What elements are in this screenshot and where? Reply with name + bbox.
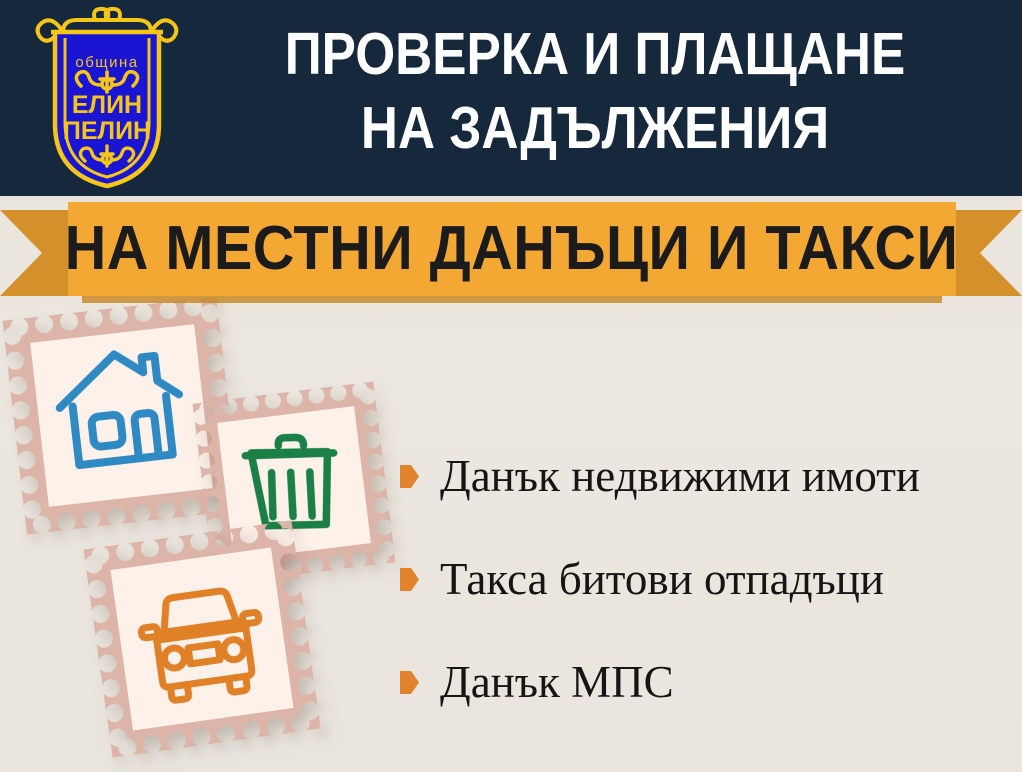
stamp-card-vehicle <box>83 520 320 757</box>
list-item-label: Такса битови отпадъци <box>440 554 884 604</box>
ribbon-banner: НА МЕСТНИ ДАНЪЦИ И ТАКСИ <box>0 196 1022 306</box>
list-item-label: Данък МПС <box>440 657 674 707</box>
list-item[interactable]: Такса битови отпадъци <box>400 527 1010 630</box>
crest-top-text: община <box>75 54 138 71</box>
list-item[interactable]: Данък недвижими имоти <box>400 424 1010 527</box>
crest-name-line1: ЕЛИН <box>72 91 142 119</box>
crest-name-line2: ПЕЛИН <box>63 117 151 145</box>
service-list: Данък недвижими имоти Такса битови отпад… <box>400 424 1010 733</box>
stamp-paper <box>111 548 294 731</box>
arrow-bullet-icon <box>400 568 419 591</box>
arrow-bullet-icon <box>400 671 419 694</box>
municipality-crest-logo: община ЕЛИН ПЕЛИН <box>33 6 181 190</box>
list-item-label: Данък недвижими имоти <box>440 451 920 501</box>
ribbon-shadow <box>82 296 942 303</box>
list-item[interactable]: Данък МПС <box>400 630 1010 733</box>
ribbon-main-panel: НА МЕСТНИ ДАНЪЦИ И ТАКСИ <box>68 202 956 296</box>
poster-canvas: ПРОВЕРКА И ПЛАЩАНЕ НА ЗАДЪЛЖЕНИЯ община <box>0 0 1022 772</box>
arrow-bullet-icon <box>400 465 419 488</box>
ribbon-subtitle: НА МЕСТНИ ДАНЪЦИ И ТАКСИ <box>65 218 959 280</box>
page-title: ПРОВЕРКА И ПЛАЩАНЕ НА ЗАДЪЛЖЕНИЯ <box>238 17 951 165</box>
